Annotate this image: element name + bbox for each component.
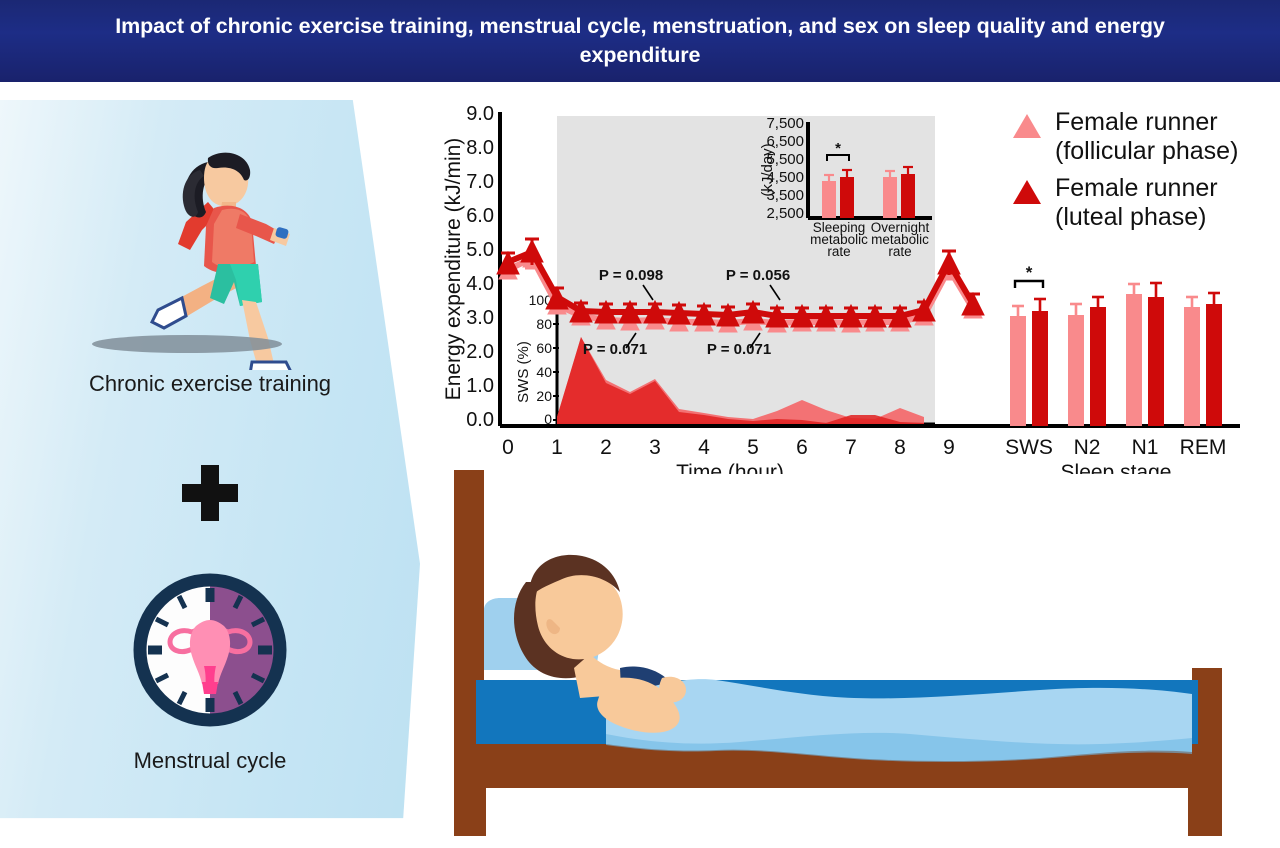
x-tick: 3 (649, 436, 661, 459)
y-tick: 1.0 (466, 375, 494, 397)
y-tick: 5.0 (466, 239, 494, 261)
sleep-stage-label: REM (1180, 436, 1227, 459)
y-axis-title: Energy expenditure (kJ/min) (442, 138, 465, 401)
metabolic-rate-inset-chart: 7,500 6,500 5,500 4,500 3,500 2,500 (kJ/… (720, 115, 932, 259)
legend-label-line1: Female runner (1055, 174, 1218, 202)
y-tick: 3.0 (466, 307, 494, 329)
bar-n1-follicular (1126, 294, 1142, 426)
bar-rem-luteal (1206, 304, 1222, 426)
woman-sleeping-in-bed-illustration (440, 462, 1280, 848)
x-tick: 6 (796, 436, 808, 459)
y-tick: 0.0 (466, 409, 494, 431)
sws-y-axis-title: SWS (%) (515, 341, 532, 403)
legend-label-line1: Female runner (1055, 108, 1218, 136)
y-tick: 9.0 (466, 104, 494, 125)
mr-y-tick: 2,500 (766, 205, 804, 222)
sleep-stage-bar-chart: * (1005, 263, 1226, 474)
sws-y-tick: 0 (544, 411, 552, 427)
legend-item-luteal: Female runner (luteal phase) (1013, 174, 1218, 231)
triangle-marker-icon (1013, 180, 1041, 204)
significance-marker: * (835, 140, 841, 157)
triangle-marker-icon (1013, 114, 1041, 138)
bar-rem-follicular (1184, 307, 1200, 426)
bar-overnight-luteal (901, 174, 915, 218)
sleep-stage-label: N1 (1132, 436, 1159, 459)
significance-marker: * (1026, 263, 1033, 282)
x-tick: 9 (943, 436, 955, 459)
bar-sleeping-follicular (822, 181, 836, 218)
plus-icon (182, 465, 238, 521)
legend-label-line2: (follicular phase) (1055, 137, 1238, 165)
x-tick: 7 (845, 436, 857, 459)
bar-n1-luteal (1148, 297, 1164, 426)
sleep-stage-label: N2 (1074, 436, 1101, 459)
bed-leg-left (460, 788, 486, 836)
sws-y-tick: 80 (536, 316, 552, 332)
bed-leg-right (1188, 788, 1214, 836)
y-tick: 7.0 (466, 171, 494, 193)
y-tick: 2.0 (466, 341, 494, 363)
mr-y-axis-title: (kJ/day) (759, 143, 776, 196)
mr-category-label: rate (888, 244, 911, 259)
p-value-label: P = 0.071 (583, 341, 647, 358)
x-tick: 0 (502, 436, 514, 459)
mr-y-tick: 7,500 (766, 115, 804, 132)
y-tick: 6.0 (466, 205, 494, 227)
header-bar: Impact of chronic exercise training, men… (0, 0, 1280, 82)
bar-sws-luteal (1032, 311, 1048, 426)
runner-shadow (92, 335, 282, 353)
sws-y-tick: 60 (536, 340, 552, 356)
x-tick: 4 (698, 436, 710, 459)
bar-n2-follicular (1068, 315, 1084, 426)
legend-item-follicular: Female runner (follicular phase) (1013, 108, 1238, 165)
p-value-label: P = 0.056 (726, 267, 790, 284)
p-value-label: P = 0.098 (599, 267, 663, 284)
x-tick: 8 (894, 436, 906, 459)
y-tick: 4.0 (466, 273, 494, 295)
bar-sws-follicular (1010, 316, 1026, 426)
bar-sleeping-luteal (840, 177, 854, 218)
figure-panel: 9.0 8.0 7.0 6.0 5.0 4.0 3.0 2.0 1.0 0.0 … (440, 104, 1280, 474)
bar-n2-luteal (1090, 307, 1106, 426)
sleep-stage-label: SWS (1005, 436, 1053, 459)
sws-y-tick: 20 (536, 388, 552, 404)
mr-category-label: rate (827, 244, 850, 259)
legend: Female runner (follicular phase) Female … (1013, 108, 1238, 231)
x-tick: 1 (551, 436, 563, 459)
sws-y-tick: 40 (536, 364, 552, 380)
x-tick: 2 (600, 436, 612, 459)
x-tick: 5 (747, 436, 759, 459)
y-tick: 8.0 (466, 137, 494, 159)
chronic-exercise-label: Chronic exercise training (30, 370, 390, 398)
bar-overnight-follicular (883, 177, 897, 218)
menstrual-cycle-label: Menstrual cycle (30, 748, 390, 774)
page-title: Impact of chronic exercise training, men… (75, 12, 1205, 70)
legend-label-line2: (luteal phase) (1055, 203, 1206, 231)
menstrual-cycle-clock-icon (130, 570, 290, 730)
p-value-label: P = 0.071 (707, 341, 771, 358)
